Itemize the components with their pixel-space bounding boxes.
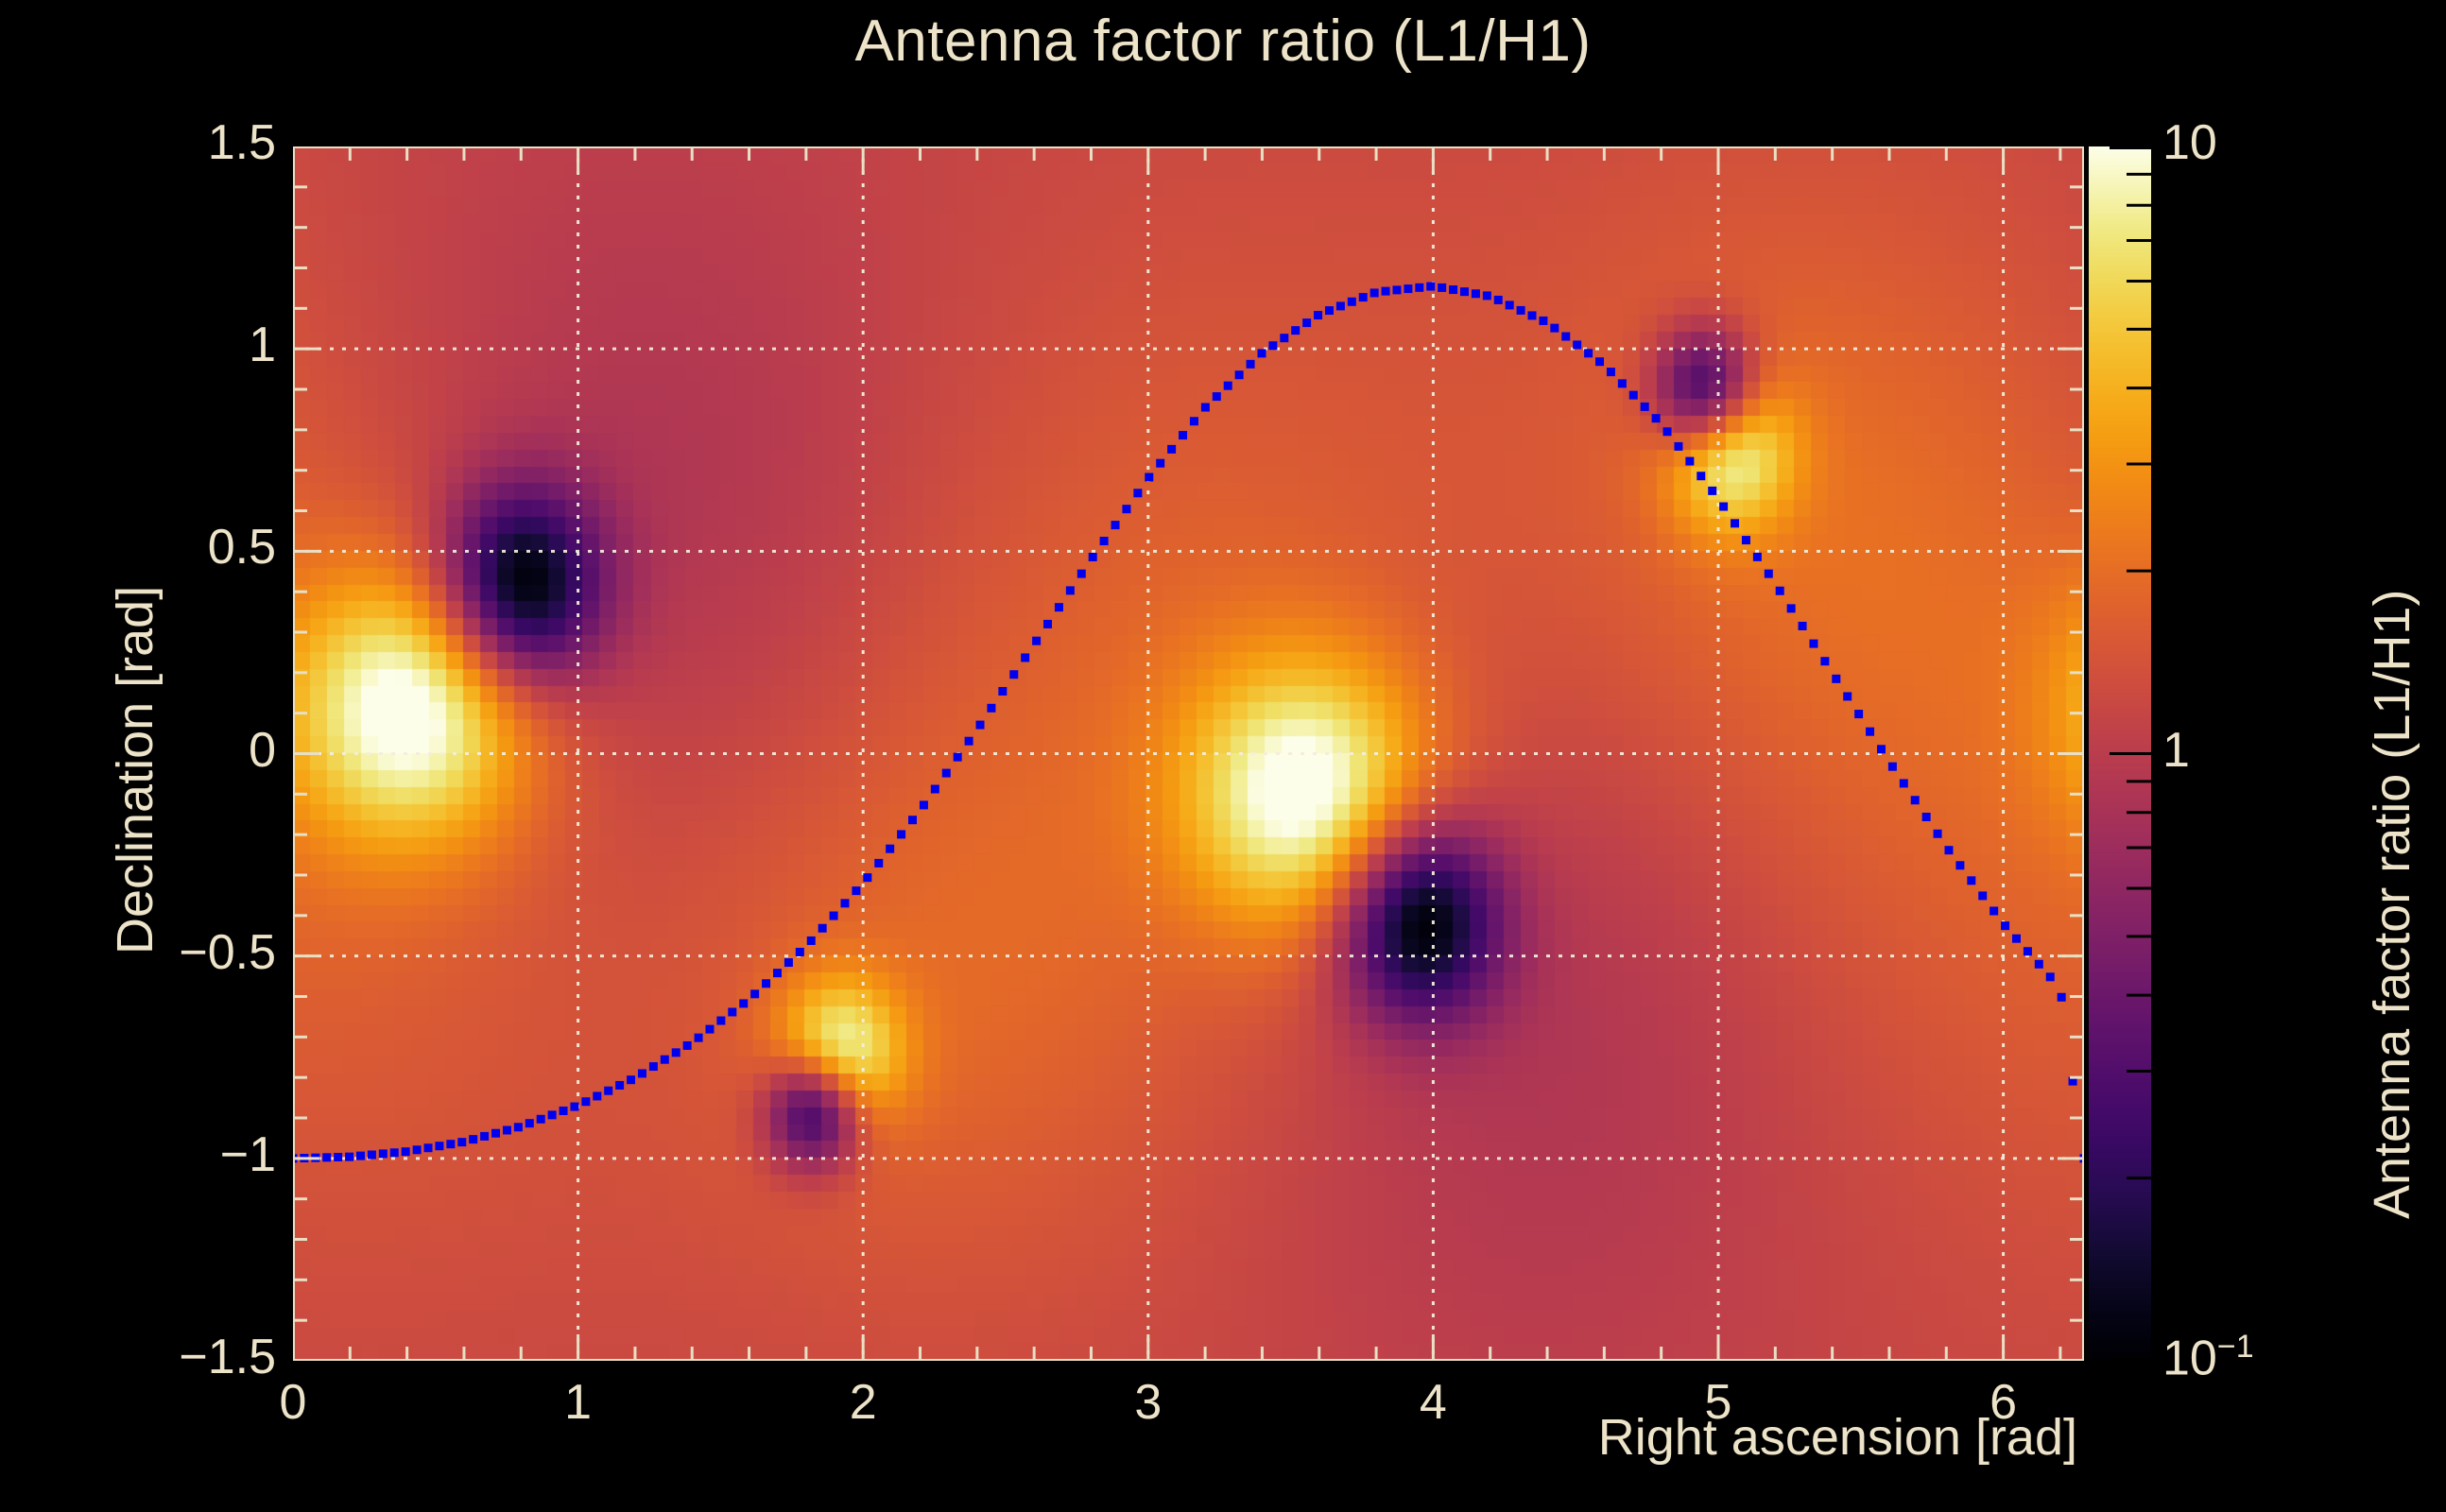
heatmap-field [293,146,2084,1361]
colorbar-tick-label: 10 [2162,114,2217,171]
colorbar-tick-marks [2089,146,2151,1361]
plot-canvas: Antenna factor ratio (L1/H1) 1.510.50−0.… [0,0,2446,1512]
colorbar [2089,146,2151,1361]
y-tick-label: 0.5 [87,519,276,576]
y-tick-label: 1 [87,317,276,373]
colorbar-title: Antenna factor ratio (L1/H1) [2363,590,2421,1219]
y-axis-title: Declination [rad] [106,586,164,954]
page-title: Antenna factor ratio (L1/H1) [0,8,2446,75]
x-axis-title: Right ascension [rad] [0,1408,2077,1467]
heatmap-plot-area [293,146,2084,1361]
y-tick-label: −1 [87,1126,276,1183]
colorbar-tick-label: 10−1 [2162,1329,2254,1386]
y-tick-label: 1.5 [87,114,276,171]
colorbar-tick-label: 1 [2162,722,2190,779]
